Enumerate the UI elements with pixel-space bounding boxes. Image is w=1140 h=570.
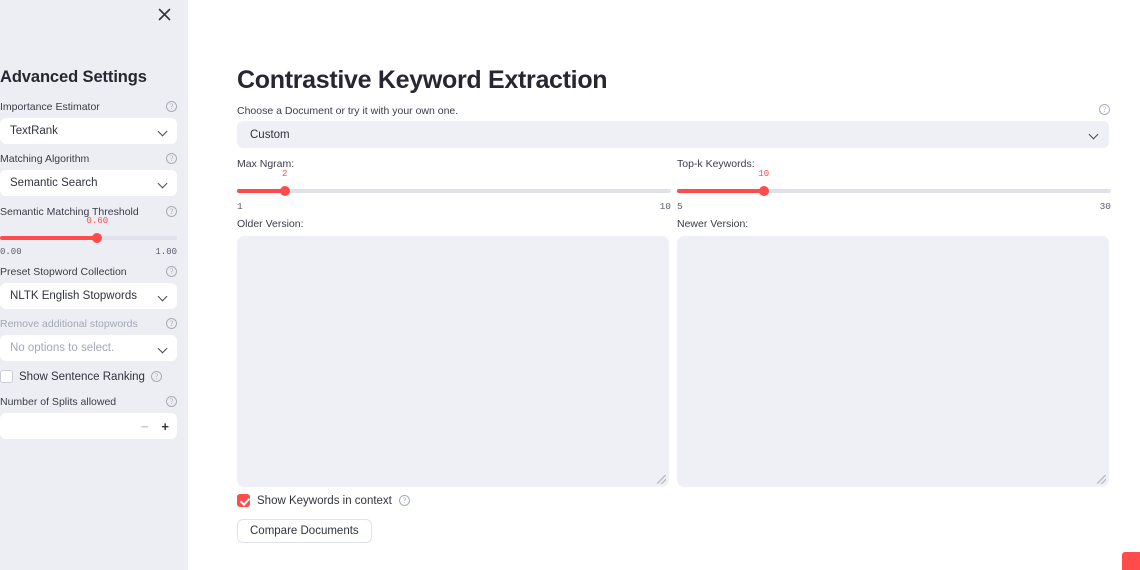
help-icon[interactable]: ?: [166, 266, 177, 277]
stopword-collection-group: Preset Stopword Collection ? NLTK Englis…: [0, 264, 188, 309]
newer-version-textarea[interactable]: [677, 236, 1109, 487]
help-icon[interactable]: ?: [151, 371, 162, 382]
semantic-threshold-group: Semantic Matching Threshold ? 0.60 0.00 …: [0, 204, 188, 257]
chevron-down-icon: [159, 127, 168, 136]
splits-allowed-label-row: Number of Splits allowed ?: [0, 394, 177, 409]
help-icon[interactable]: ?: [166, 206, 177, 217]
older-version-group: Older Version:: [237, 218, 669, 487]
main-content: Contrastive Keyword Extraction Choose a …: [188, 0, 1140, 570]
newer-version-group: Newer Version:: [677, 218, 1109, 487]
compare-documents-label: Compare Documents: [250, 525, 359, 537]
additional-stopwords-select[interactable]: No options to select.: [0, 335, 177, 361]
importance-estimator-group: Importance Estimator ? TextRank: [0, 99, 188, 144]
stopword-collection-select[interactable]: NLTK English Stopwords: [0, 283, 177, 309]
resize-handle-icon[interactable]: [657, 475, 666, 484]
max-ngram-range: 1 10: [237, 201, 671, 212]
topk-keywords-label: Top-k Keywords:: [677, 158, 1111, 170]
document-caption: Choose a Document or try it with your ow…: [237, 105, 458, 117]
slider-max: 1.00: [155, 247, 177, 257]
document-select[interactable]: Custom: [237, 121, 1109, 148]
slider-thumb[interactable]: [280, 186, 290, 196]
importance-estimator-select[interactable]: TextRank: [0, 118, 177, 144]
max-ngram-value: 2: [282, 169, 287, 179]
additional-stopwords-label-row: Remove additional stopwords ?: [0, 316, 177, 331]
chevron-down-icon: [159, 292, 168, 301]
corner-accent-badge[interactable]: [1122, 552, 1140, 570]
help-icon[interactable]: ?: [166, 318, 177, 329]
matching-algorithm-label-row: Matching Algorithm ?: [0, 151, 177, 166]
slider-min: 1: [237, 201, 243, 212]
matching-algorithm-group: Matching Algorithm ? Semantic Search: [0, 151, 188, 196]
help-icon[interactable]: ?: [166, 153, 177, 164]
stopword-collection-label-row: Preset Stopword Collection ?: [0, 264, 177, 279]
slider-min: 5: [677, 201, 683, 212]
matching-algorithm-select[interactable]: Semantic Search: [0, 170, 177, 196]
increment-button[interactable]: +: [161, 420, 169, 433]
topk-keywords-group: Top-k Keywords: 10 5 30: [677, 158, 1111, 212]
additional-stopwords-group: Remove additional stopwords ? No options…: [0, 316, 188, 361]
decrement-button[interactable]: −: [141, 420, 149, 433]
matching-algorithm-value: Semantic Search: [10, 177, 98, 189]
help-icon[interactable]: ?: [1099, 104, 1110, 115]
semantic-threshold-slider[interactable]: 0.60: [0, 231, 177, 245]
max-ngram-group: Max Ngram: 2 1 10: [237, 158, 671, 212]
show-keywords-in-context-row[interactable]: Show Keywords in context ?: [237, 494, 410, 507]
app-root: Advanced Settings Importance Estimator ?…: [0, 0, 1140, 570]
topk-keywords-value: 10: [758, 169, 769, 179]
show-sentence-ranking-checkbox[interactable]: [0, 370, 13, 383]
stopword-collection-value: NLTK English Stopwords: [10, 290, 137, 302]
show-sentence-ranking-row[interactable]: Show Sentence Ranking ?: [0, 370, 188, 383]
advanced-settings-sidebar: Advanced Settings Importance Estimator ?…: [0, 0, 188, 570]
chevron-down-icon: [159, 179, 168, 188]
slider-fill: [0, 236, 97, 240]
slider-thumb[interactable]: [92, 233, 102, 243]
older-version-label: Older Version:: [237, 218, 669, 230]
page-title: Contrastive Keyword Extraction: [237, 66, 607, 95]
help-icon[interactable]: ?: [399, 495, 410, 506]
slider-max: 30: [1100, 201, 1111, 212]
show-keywords-in-context-checkbox[interactable]: [237, 494, 250, 507]
topk-keywords-range: 5 30: [677, 201, 1111, 212]
additional-stopwords-placeholder: No options to select.: [10, 342, 114, 354]
help-icon[interactable]: ?: [166, 101, 177, 112]
older-version-textarea[interactable]: [237, 236, 669, 487]
document-select-value: Custom: [250, 129, 290, 141]
importance-estimator-label-row: Importance Estimator ?: [0, 99, 177, 114]
slider-min: 0.00: [0, 247, 22, 257]
chevron-down-icon: [1090, 130, 1099, 139]
topk-keywords-slider[interactable]: 10: [677, 184, 1111, 198]
semantic-threshold-range: 0.00 1.00: [0, 247, 177, 257]
slider-max: 10: [660, 201, 671, 212]
show-keywords-in-context-label: Show Keywords in context: [257, 495, 392, 507]
compare-documents-button[interactable]: Compare Documents: [237, 519, 372, 543]
importance-estimator-label: Importance Estimator: [0, 101, 100, 113]
importance-estimator-value: TextRank: [10, 125, 58, 137]
splits-allowed-group: Number of Splits allowed ? − +: [0, 394, 188, 439]
slider-track: [237, 189, 671, 193]
stopword-collection-label: Preset Stopword Collection: [0, 266, 127, 278]
chevron-down-icon: [159, 344, 168, 353]
max-ngram-slider[interactable]: 2: [237, 184, 671, 198]
slider-fill: [237, 189, 285, 193]
resize-handle-icon[interactable]: [1097, 475, 1106, 484]
help-icon[interactable]: ?: [166, 396, 177, 407]
semantic-threshold-label: Semantic Matching Threshold: [0, 206, 139, 218]
close-icon[interactable]: [156, 6, 172, 22]
sidebar-title: Advanced Settings: [0, 68, 147, 87]
max-ngram-label: Max Ngram:: [237, 158, 671, 170]
slider-fill: [677, 189, 764, 193]
splits-allowed-stepper[interactable]: − +: [0, 413, 177, 439]
slider-thumb[interactable]: [759, 186, 769, 196]
additional-stopwords-label: Remove additional stopwords: [0, 318, 138, 330]
show-sentence-ranking-label: Show Sentence Ranking: [19, 371, 145, 383]
matching-algorithm-label: Matching Algorithm: [0, 153, 89, 165]
splits-allowed-label: Number of Splits allowed: [0, 396, 116, 408]
newer-version-label: Newer Version:: [677, 218, 1109, 230]
semantic-threshold-value: 0.60: [87, 216, 109, 226]
